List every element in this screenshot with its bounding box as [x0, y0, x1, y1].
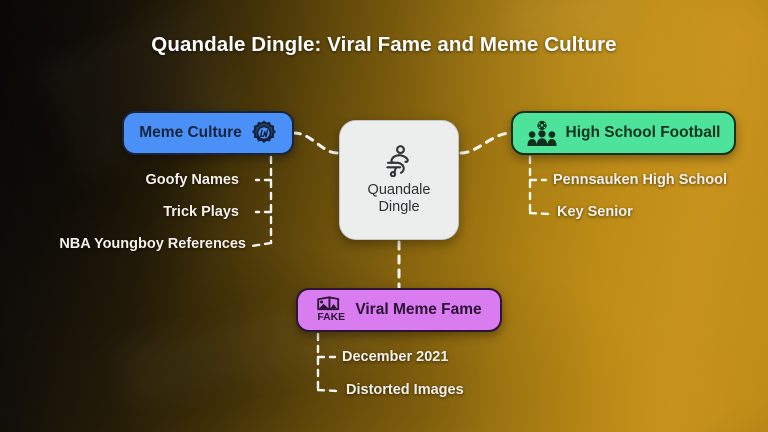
center-node-label-line2: Dingle [368, 199, 431, 216]
gear-meme-icon [251, 120, 277, 146]
center-node-label-line1: Quandale [368, 182, 431, 199]
svg-text:FAKE: FAKE [318, 312, 346, 323]
running-person-icon [384, 145, 414, 177]
team-soccerball-icon [527, 120, 557, 147]
mindmap-canvas: Quandale Dingle: Viral Fame and Meme Cul… [0, 0, 768, 432]
leaf-high-school-football-0[interactable]: Pennsauken High School [553, 172, 727, 188]
leaf-meme-culture-2[interactable]: NBA Youngboy References [59, 236, 246, 252]
leaf-viral-meme-fame-1[interactable]: Distorted Images [346, 382, 464, 398]
node-viral-meme-fame-label: Viral Meme Fame [355, 301, 481, 319]
leaf-viral-meme-fame-0[interactable]: December 2021 [342, 349, 448, 365]
center-node-label: Quandale Dingle [368, 182, 431, 216]
fake-photo-icon: FAKE [316, 295, 346, 325]
node-meme-culture-label: Meme Culture [139, 124, 242, 142]
page-title: Quandale Dingle: Viral Fame and Meme Cul… [0, 33, 768, 57]
leaf-high-school-football-1[interactable]: Key Senior [557, 204, 633, 220]
leaf-meme-culture-1[interactable]: Trick Plays [163, 204, 239, 220]
node-high-school-football-label: High School Football [566, 124, 721, 142]
node-meme-culture[interactable]: Meme Culture [122, 111, 294, 155]
node-high-school-football[interactable]: High School Football [511, 111, 736, 155]
center-node-quandale-dingle[interactable]: Quandale Dingle [339, 120, 459, 240]
leaf-meme-culture-0[interactable]: Goofy Names [146, 172, 239, 188]
node-viral-meme-fame[interactable]: FAKE Viral Meme Fame [296, 288, 502, 332]
